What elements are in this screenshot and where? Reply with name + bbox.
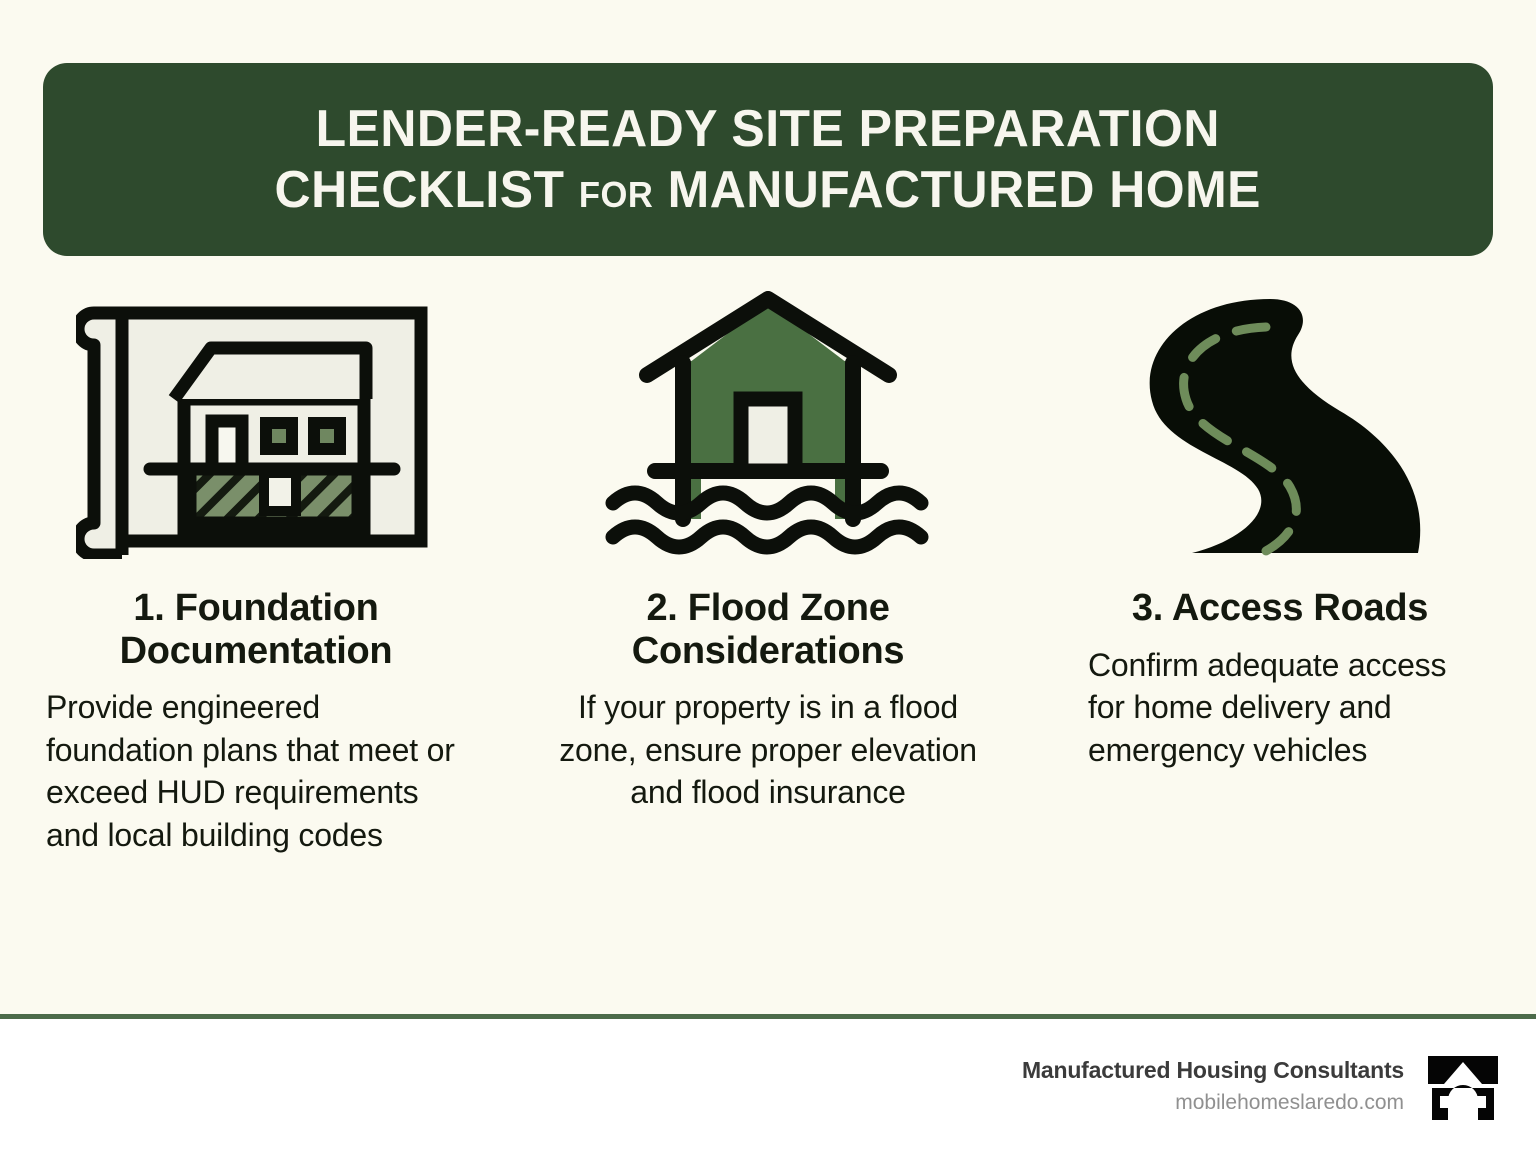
checklist-item-flood-zone: 2. Flood Zone Considerations If your pro… xyxy=(512,285,1024,856)
title-for-word: FOR xyxy=(579,174,653,215)
checklist-body: If your property is in a flood zone, ens… xyxy=(558,686,978,814)
checklist-heading: 2. Flood Zone Considerations xyxy=(558,587,978,672)
winding-road-icon xyxy=(1070,285,1490,565)
blueprint-foundation-icon xyxy=(46,285,466,565)
checklist-body: Provide engineered foundation plans that… xyxy=(46,686,466,856)
title-manufactured-home-word: MANUFACTURED HOME xyxy=(668,161,1261,219)
checklist-heading: 3. Access Roads xyxy=(1132,587,1428,630)
house-logo-icon xyxy=(1426,1050,1500,1124)
checklist-columns: 1. Foundation Documentation Provide engi… xyxy=(0,285,1536,856)
footer-branding: Manufactured Housing Consultants mobileh… xyxy=(0,1019,1536,1154)
title-checklist-word: CHECKLIST xyxy=(275,161,565,219)
title-line-1: LENDER-READY SITE PREPARATION xyxy=(275,99,1261,159)
infographic-page: LENDER-READY SITE PREPARATION CHECKLIST … xyxy=(0,0,1536,1154)
page-title: LENDER-READY SITE PREPARATION CHECKLIST … xyxy=(275,99,1261,220)
brand-name: Manufactured Housing Consultants xyxy=(1022,1056,1404,1086)
checklist-heading: 1. Foundation Documentation xyxy=(46,587,466,672)
footer-text-block: Manufactured Housing Consultants mobileh… xyxy=(1022,1056,1404,1117)
title-line-2: CHECKLIST FOR MANUFACTURED HOME xyxy=(275,160,1261,220)
brand-url[interactable]: mobilehomeslaredo.com xyxy=(1022,1089,1404,1117)
checklist-item-foundation: 1. Foundation Documentation Provide engi… xyxy=(0,285,512,856)
checklist-item-access-roads: 3. Access Roads Confirm adequate access … xyxy=(1024,285,1536,856)
elevated-house-flood-icon xyxy=(558,285,978,565)
checklist-body: Confirm adequate access for home deliver… xyxy=(1070,644,1490,772)
title-banner: LENDER-READY SITE PREPARATION CHECKLIST … xyxy=(43,63,1493,256)
